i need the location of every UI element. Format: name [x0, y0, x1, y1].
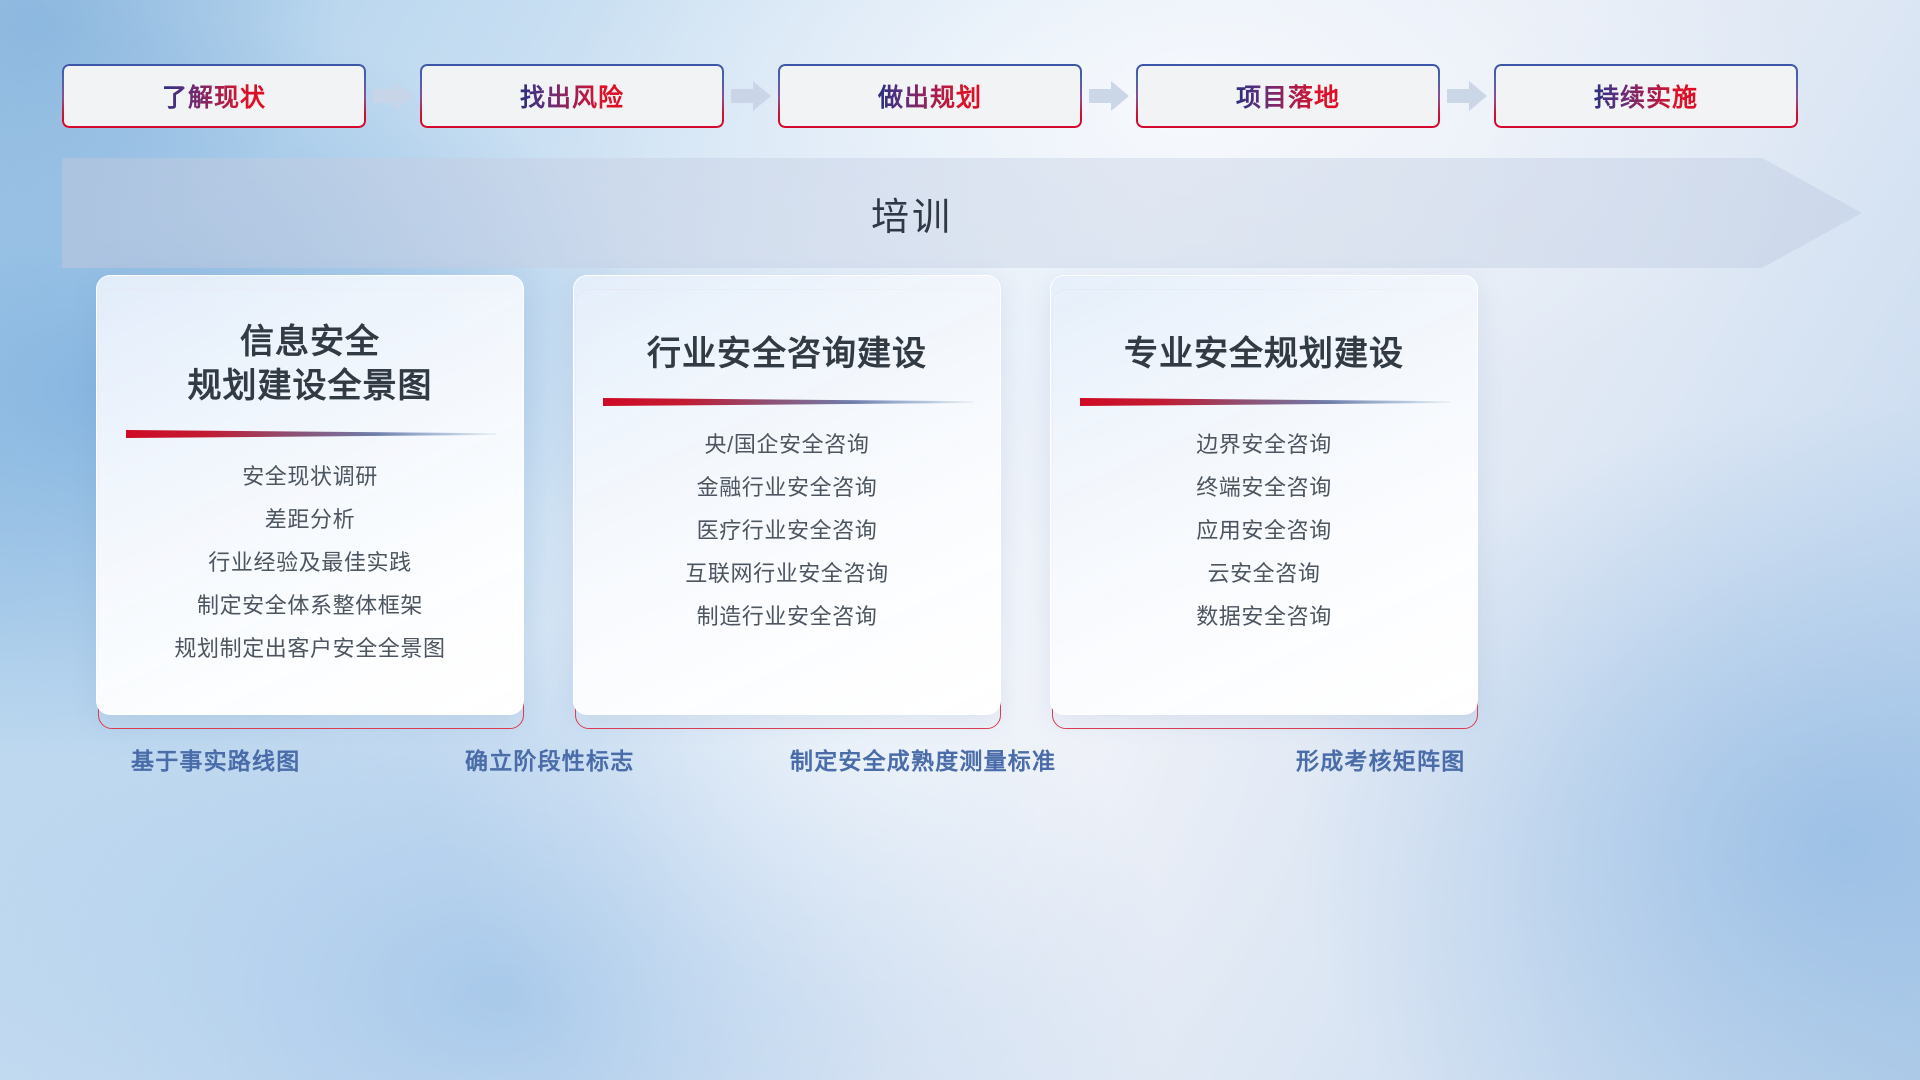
process-step-label: 了解现状 — [162, 78, 266, 114]
process-step-label: 持续实施 — [1594, 78, 1698, 114]
consulting-card-row: 信息安全 规划建设全景图安全现状调研差距分析行业经验及最佳实践制定安全体系整体框… — [96, 275, 1836, 720]
list-item: 医疗行业安全咨询 — [697, 514, 878, 547]
card-body: 行业安全咨询建设央/国企安全咨询金融行业安全咨询医疗行业安全咨询互联网行业安全咨… — [573, 275, 1001, 715]
list-item: 应用安全咨询 — [1196, 514, 1332, 547]
footer-label-3: 制定安全成熟度测量标准 — [790, 742, 1056, 776]
card-title: 专业安全规划建设 — [1124, 332, 1404, 376]
tapered-gradient-divider-icon — [124, 428, 496, 440]
consulting-card-3[interactable]: 专业安全规划建设边界安全咨询终端安全咨询应用安全咨询云安全咨询数据安全咨询 — [1050, 275, 1478, 715]
list-item: 制定安全体系整体框架 — [197, 589, 423, 622]
process-step-1[interactable]: 了解现状 — [62, 64, 366, 128]
process-step-label: 找出风险 — [520, 78, 624, 114]
list-item: 边界安全咨询 — [1196, 428, 1332, 461]
list-item: 互联网行业安全咨询 — [685, 557, 888, 590]
list-item: 规划制定出客户安全全景图 — [174, 632, 445, 665]
chevron-right-arrow-icon — [1082, 76, 1136, 116]
process-step-4[interactable]: 项目落地 — [1136, 64, 1440, 128]
tapered-gradient-divider-icon — [1078, 396, 1450, 408]
process-step-2[interactable]: 找出风险 — [420, 64, 724, 128]
list-item: 央/国企安全咨询 — [705, 428, 870, 461]
tapered-gradient-divider-icon — [601, 396, 973, 408]
card-title: 行业安全咨询建设 — [647, 332, 927, 376]
card-title: 信息安全 规划建设全景图 — [188, 320, 433, 408]
card-body: 专业安全规划建设边界安全咨询终端安全咨询应用安全咨询云安全咨询数据安全咨询 — [1050, 275, 1478, 715]
banner-title: 培训 — [62, 158, 1762, 268]
list-item: 制造行业安全咨询 — [697, 600, 878, 633]
list-item: 云安全咨询 — [1207, 557, 1320, 590]
list-item: 差距分析 — [265, 503, 355, 536]
list-item: 终端安全咨询 — [1196, 471, 1332, 504]
chevron-right-arrow-icon — [366, 76, 420, 116]
footer-label-2: 确立阶段性标志 — [465, 742, 634, 776]
list-item: 安全现状调研 — [242, 460, 378, 493]
slide-canvas: 了解现状找出风险做出规划项目落地持续实施 培训 信息安全 规划建设全景图安全现状… — [0, 0, 1920, 1080]
process-step-5[interactable]: 持续实施 — [1494, 64, 1798, 128]
list-item: 数据安全咨询 — [1196, 600, 1332, 633]
chevron-right-arrow-icon — [1440, 76, 1494, 116]
process-step-label: 项目落地 — [1236, 78, 1340, 114]
footer-label-4: 形成考核矩阵图 — [1296, 742, 1465, 776]
chevron-right-arrow-icon — [724, 76, 778, 116]
card-item-list: 边界安全咨询终端安全咨询应用安全咨询云安全咨询数据安全咨询 — [1051, 428, 1477, 633]
process-step-row: 了解现状找出风险做出规划项目落地持续实施 — [62, 63, 1862, 129]
consulting-card-2[interactable]: 行业安全咨询建设央/国企安全咨询金融行业安全咨询医疗行业安全咨询互联网行业安全咨… — [573, 275, 1001, 715]
list-item: 金融行业安全咨询 — [697, 471, 878, 504]
process-step-3[interactable]: 做出规划 — [778, 64, 1082, 128]
card-body: 信息安全 规划建设全景图安全现状调研差距分析行业经验及最佳实践制定安全体系整体框… — [96, 275, 524, 715]
list-item: 行业经验及最佳实践 — [208, 546, 411, 579]
card-item-list: 安全现状调研差距分析行业经验及最佳实践制定安全体系整体框架规划制定出客户安全全景… — [97, 460, 523, 665]
training-banner: 培训 — [62, 158, 1862, 268]
consulting-card-1[interactable]: 信息安全 规划建设全景图安全现状调研差距分析行业经验及最佳实践制定安全体系整体框… — [96, 275, 524, 715]
card-item-list: 央/国企安全咨询金融行业安全咨询医疗行业安全咨询互联网行业安全咨询制造行业安全咨… — [574, 428, 1000, 633]
process-step-label: 做出规划 — [878, 78, 982, 114]
footer-label-1: 基于事实路线图 — [131, 742, 300, 776]
footer-label-row: 基于事实路线图确立阶段性标志制定安全成熟度测量标准形成考核矩阵图 — [0, 742, 1920, 788]
